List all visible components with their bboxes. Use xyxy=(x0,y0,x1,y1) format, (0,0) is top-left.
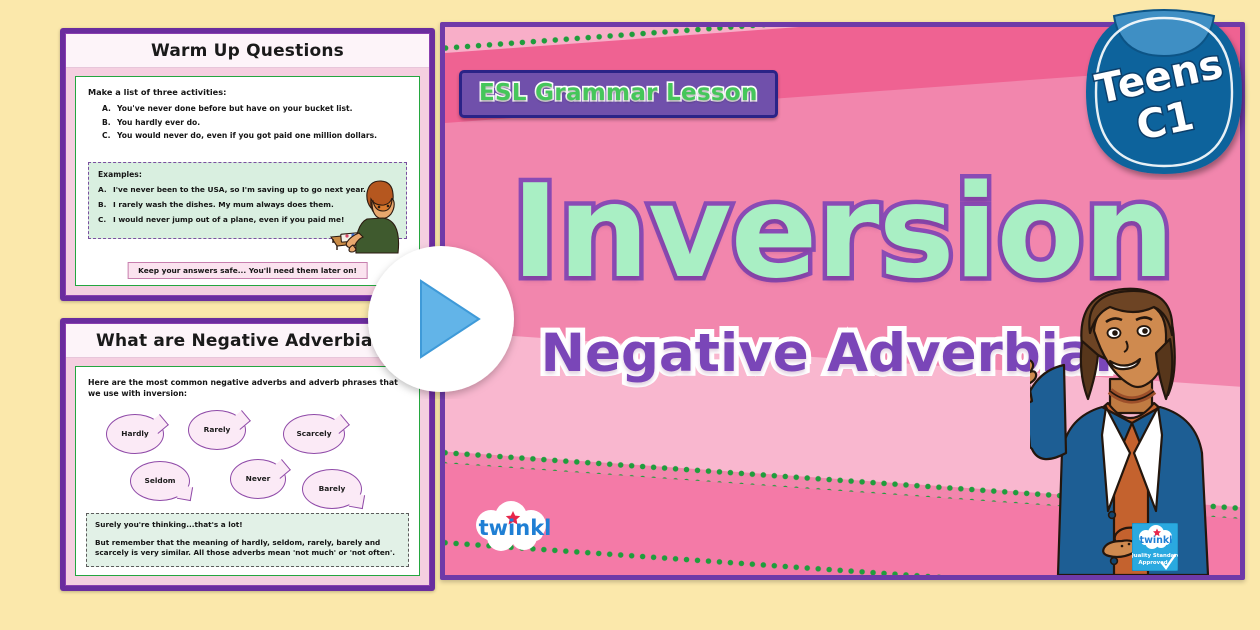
level-badge-teens-c1: Teens C1 xyxy=(1076,2,1252,180)
adverb-bubble-group: Hardly Rarely Scarcely Seldom Never xyxy=(88,406,407,526)
svg-text:twinkl: twinkl xyxy=(1140,535,1173,546)
note-box: Surely you're thinking...that's a lot! B… xyxy=(86,513,409,567)
twinkl-logo: twinkl xyxy=(469,501,561,553)
adverb-bubble: Never xyxy=(230,459,286,499)
adverb-bubble: Barely xyxy=(302,469,362,509)
slide-title: Warm Up Questions xyxy=(151,41,344,61)
item-letter: B. xyxy=(102,118,111,127)
play-button[interactable] xyxy=(361,239,521,399)
slide-title: What are Negative Adverbials? xyxy=(96,331,399,351)
item-text: I would never jump out of a plane, even … xyxy=(113,215,344,224)
item-letter: C. xyxy=(102,131,111,140)
list-item: C. You would never do, even if you got p… xyxy=(102,131,407,140)
adverb-bubble-label: Hardly xyxy=(121,429,148,438)
adverb-bubble-label: Scarcely xyxy=(296,429,331,438)
note-line-1: Surely you're thinking...that's a lot! xyxy=(95,520,400,531)
slide-title-bar: Warm Up Questions xyxy=(66,34,429,68)
svg-text:Quality Standard: Quality Standard xyxy=(1132,553,1178,559)
item-letter: C. xyxy=(98,215,107,224)
adverb-bubble: Scarcely xyxy=(283,414,345,454)
header-tag-label: ESL Grammar Lesson xyxy=(479,80,758,106)
adverb-bubble: Seldom xyxy=(130,461,190,501)
item-text: You've never done before but have on you… xyxy=(117,104,353,113)
preview-stage: Warm Up Questions Make a list of three a… xyxy=(0,0,1260,630)
footnote: Keep your answers safe... You'll need th… xyxy=(127,262,368,279)
note-line-2: But remember that the meaning of hardly,… xyxy=(95,538,400,559)
question-list: A. You've never done before but have on … xyxy=(88,104,407,140)
adverb-bubble-label: Never xyxy=(246,474,271,483)
adverb-bubble: Hardly xyxy=(106,414,164,454)
item-text: You would never do, even if you got paid… xyxy=(117,131,377,140)
item-letter: A. xyxy=(102,104,111,113)
adverb-bubble-label: Barely xyxy=(319,484,346,493)
adverb-bubble-label: Rarely xyxy=(204,425,231,434)
adverb-bubble-label: Seldom xyxy=(145,476,176,485)
header-tag-badge: ESL Grammar Lesson xyxy=(459,70,778,118)
list-item: A. You've never done before but have on … xyxy=(102,104,407,113)
quality-standard-badge: twinkl Quality Standard Approved xyxy=(1132,523,1178,571)
svg-text:twinkl: twinkl xyxy=(479,516,552,540)
item-letter: B. xyxy=(98,200,107,209)
intro-text: Here are the most common negative adverb… xyxy=(88,377,407,400)
item-text: I rarely wash the dishes. My mum always … xyxy=(113,200,334,209)
prompt-text: Make a list of three activities: xyxy=(88,87,407,97)
item-letter: A. xyxy=(98,185,107,194)
adverb-bubble: Rarely xyxy=(188,410,246,450)
item-text: You hardly ever do. xyxy=(117,118,200,127)
list-item: B. You hardly ever do. xyxy=(102,118,407,127)
